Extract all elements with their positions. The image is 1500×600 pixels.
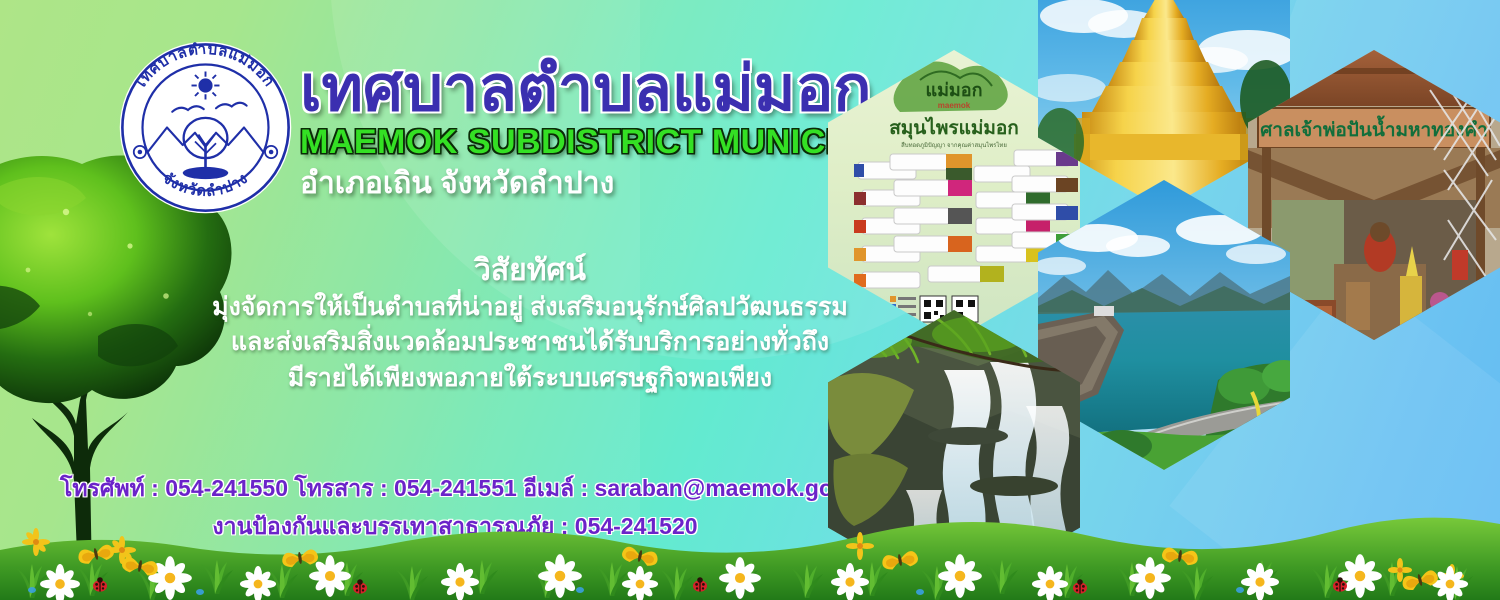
municipality-banner: เทศบาลตำบลแม่มอก จังหวัดลำปาง — [0, 0, 1500, 600]
vision-line-1: มุ่งจัดการให้เป็นตำบลที่น่าอยู่ ส่งเสริม… — [200, 290, 860, 326]
vision-line-3: มีรายได้เพียงพอภายใต้ระบบเศรษฐกิจพอเพียง — [200, 361, 860, 397]
poster-tagline: สืบทอดภูมิปัญญา จากคุณค่าสมุนไพรไทย — [901, 141, 1007, 149]
contact-phone-fax-email[interactable]: โทรศัพท์ : 054-241550 โทรสาร : 054-24155… — [60, 470, 850, 508]
poster-brand-sub: maemok — [938, 101, 971, 110]
vision-statement: วิสัยทัศน์ มุ่งจัดการให้เป็นตำบลที่น่าอย… — [200, 252, 860, 396]
poster-brand-name: แม่มอก — [925, 80, 982, 100]
poster-caption: สมุนไพรแม่มอก — [889, 116, 1019, 140]
seal-sun-icon — [192, 72, 220, 100]
vision-line-2: และส่งเสริมสิ่งแวดล้อมประชาชนได้รับบริกา… — [200, 325, 860, 361]
photo-hexagon-collage: แม่มอก maemok สมุนไพรแม่มอก สืบทอดภูมิปั… — [800, 0, 1500, 580]
grass-flower-border — [0, 510, 1500, 600]
vision-heading: วิสัยทัศน์ — [200, 252, 860, 290]
municipality-seal-logo: เทศบาลตำบลแม่มอก จังหวัดลำปาง — [118, 40, 293, 215]
